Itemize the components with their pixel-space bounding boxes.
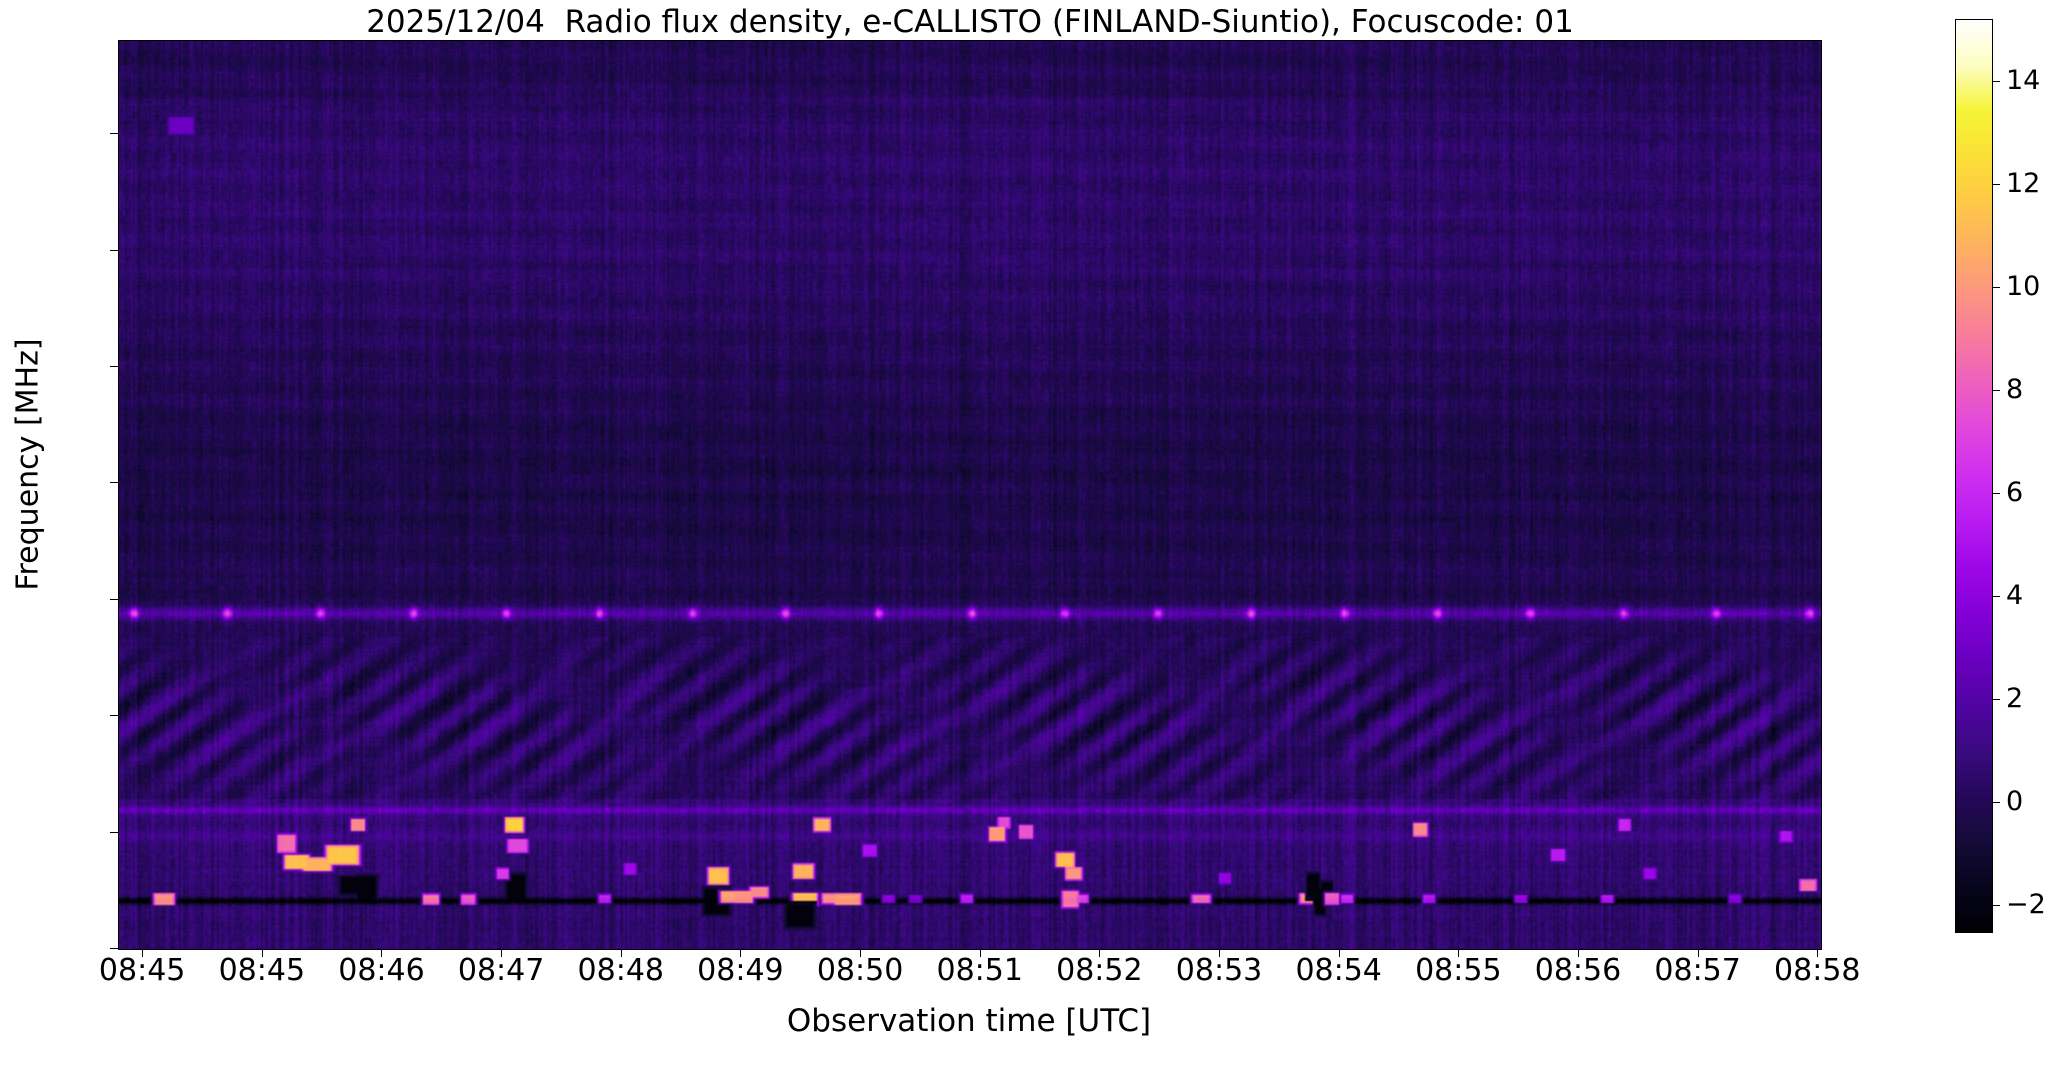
colorbar-tick-label: 2 (2006, 685, 2023, 712)
colorbar-tick-label: 4 (2006, 582, 2023, 609)
y-tick-mark (110, 482, 118, 483)
colorbar-tick-label: 8 (2006, 376, 2023, 403)
x-tick-mark (860, 949, 861, 957)
x-tick-mark (740, 949, 741, 957)
colorbar-tick-mark (1992, 905, 2000, 906)
y-tick-mark (110, 133, 118, 134)
page-title: 2025/12/04 Radio flux density, e-CALLIST… (0, 4, 1940, 40)
colorbar-tick-mark (1992, 699, 2000, 700)
x-tick-mark (1698, 949, 1699, 957)
x-axis-label: Observation time [UTC] (118, 1003, 1820, 1039)
colorbar-tick-label: 6 (2006, 479, 2023, 506)
y-tick-mark (110, 599, 118, 600)
colorbar-tick-label: 10 (2006, 273, 2040, 300)
spectrogram-plot-area (118, 40, 1822, 950)
x-tick-mark (381, 949, 382, 957)
colorbar (1955, 19, 1993, 933)
colorbar-tick-mark (1992, 802, 2000, 803)
y-tick-mark (110, 250, 118, 251)
spectrogram-figure: 2025/12/04 Radio flux density, e-CALLIST… (0, 0, 2066, 1067)
colorbar-tick-mark (1992, 390, 2000, 391)
y-tick-mark (110, 366, 118, 367)
x-tick-mark (501, 949, 502, 957)
colorbar-tick-mark (1992, 493, 2000, 494)
x-tick-mark (1339, 949, 1340, 957)
x-tick-mark (980, 949, 981, 957)
x-tick-mark (1099, 949, 1100, 957)
colorbar-tick-label: −2 (2006, 891, 2046, 918)
x-tick-mark (1578, 949, 1579, 957)
colorbar-tick-label: 14 (2006, 67, 2040, 94)
x-tick-mark (1458, 949, 1459, 957)
x-tick-mark (1817, 949, 1818, 957)
colorbar-tick-mark (1992, 596, 2000, 597)
spectrogram-image (119, 41, 1821, 949)
x-tick-mark (142, 949, 143, 957)
x-tick-mark (621, 949, 622, 957)
x-tick-mark (262, 949, 263, 957)
colorbar-tick-label: 12 (2006, 170, 2040, 197)
y-tick-mark (110, 832, 118, 833)
x-tick-mark (1219, 949, 1220, 957)
y-tick-mark (110, 948, 118, 949)
colorbar-tick-label: 0 (2006, 788, 2023, 815)
y-axis-label: Frequency [MHz] (11, 215, 46, 715)
colorbar-tick-mark (1992, 184, 2000, 185)
colorbar-tick-mark (1992, 81, 2000, 82)
colorbar-gradient (1956, 20, 1992, 932)
colorbar-tick-mark (1992, 287, 2000, 288)
y-tick-mark (110, 715, 118, 716)
x-tick-label: 08:58 (1727, 954, 1907, 988)
